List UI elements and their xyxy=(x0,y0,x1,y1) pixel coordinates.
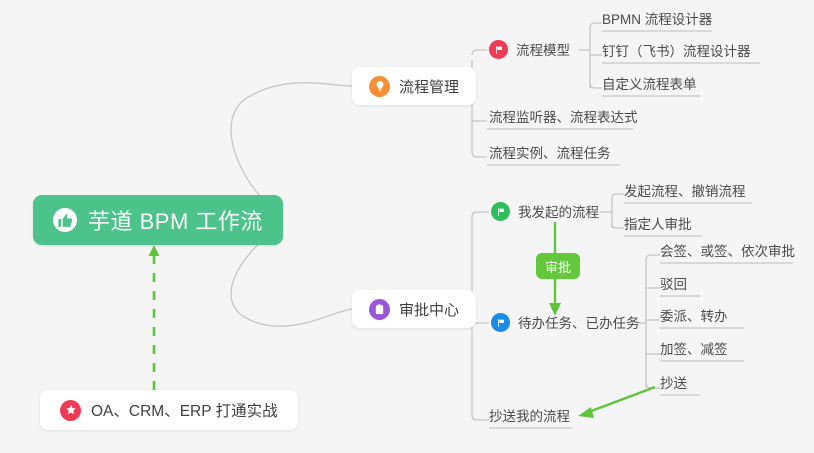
root-node[interactable]: 芋道 BPM 工作流 xyxy=(33,195,283,245)
branch-approval-center[interactable]: 审批中心 xyxy=(352,290,476,328)
node-custom-form[interactable]: 自定义流程表单 xyxy=(602,78,697,98)
arrow-floating-to-root xyxy=(149,245,160,390)
node-process-model[interactable]: 流程模型 xyxy=(489,40,570,64)
wire-pm-to-instance xyxy=(472,152,487,157)
node-bpmn-designer[interactable]: BPMN 流程设计器 xyxy=(602,13,712,33)
wire-ac-to-cc xyxy=(472,415,489,420)
wire-model-to-customform xyxy=(590,83,602,88)
wire-root-to-process-management xyxy=(231,83,352,213)
node-reject[interactable]: 驳回 xyxy=(660,278,687,298)
node-my-started-process[interactable]: 我发起的流程 xyxy=(491,202,599,226)
node-process-model-label: 流程模型 xyxy=(516,44,570,59)
floating-node-label: OA、CRM、ERP 打通实战 xyxy=(91,399,278,421)
node-add-remove-sign-label: 加签、减签 xyxy=(660,343,728,358)
flag-icon xyxy=(491,313,510,332)
node-cc-my-process-label: 抄送我的流程 xyxy=(489,410,570,425)
wire-started-to-launch xyxy=(612,194,624,198)
node-dingtalk-designer-label: 钉钉（飞书）流程设计器 xyxy=(602,45,751,60)
annotation-approval-badge: 审批 xyxy=(536,253,580,279)
node-process-instance-label: 流程实例、流程任务 xyxy=(489,147,611,162)
floating-node-integration[interactable]: OA、CRM、ERP 打通实战 xyxy=(40,390,298,430)
node-add-remove-sign[interactable]: 加签、减签 xyxy=(660,343,728,363)
node-assign-approver[interactable]: 指定人审批 xyxy=(624,218,692,238)
branch-approval-center-label: 审批中心 xyxy=(399,299,459,320)
node-cc-label: 抄送 xyxy=(660,377,687,392)
node-todo-done-task[interactable]: 待办任务、已办任务 xyxy=(491,313,640,337)
node-process-instance[interactable]: 流程实例、流程任务 xyxy=(489,147,611,167)
wire-started-to-assign xyxy=(612,224,624,228)
annotation-approval-badge-label: 审批 xyxy=(545,257,571,276)
node-delegate-transfer-label: 委派、转办 xyxy=(660,310,728,325)
arrow-cc-to-cc-my-process xyxy=(578,387,655,418)
node-cc-my-process[interactable]: 抄送我的流程 xyxy=(489,410,570,430)
node-delegate-transfer[interactable]: 委派、转办 xyxy=(660,310,728,330)
node-todo-done-task-label: 待办任务、已办任务 xyxy=(518,317,640,332)
root-label: 芋道 BPM 工作流 xyxy=(88,204,263,236)
node-launch-cancel-process[interactable]: 发起流程、撤销流程 xyxy=(624,185,746,205)
wire-todo-to-cc xyxy=(646,383,660,388)
node-process-listener[interactable]: 流程监听器、流程表达式 xyxy=(489,111,638,131)
flag-icon xyxy=(489,40,508,59)
node-custom-form-label: 自定义流程表单 xyxy=(602,78,697,93)
flag-icon xyxy=(491,202,510,221)
node-bpmn-designer-label: BPMN 流程设计器 xyxy=(602,13,712,28)
wire-ac-to-started xyxy=(472,212,489,217)
node-cc[interactable]: 抄送 xyxy=(660,377,687,397)
node-countersign-label: 会签、或签、依次审批 xyxy=(660,245,795,260)
node-launch-cancel-process-label: 发起流程、撤销流程 xyxy=(624,185,746,200)
node-assign-approver-label: 指定人审批 xyxy=(624,218,692,233)
node-dingtalk-designer[interactable]: 钉钉（飞书）流程设计器 xyxy=(602,45,751,65)
branch-process-management-label: 流程管理 xyxy=(399,76,459,97)
thumbs-up-icon xyxy=(53,208,77,232)
branch-process-management[interactable]: 流程管理 xyxy=(352,67,476,105)
mindmap-canvas: 芋道 BPM 工作流 OA、CRM、ERP 打通实战 流程管理 流程模型 xyxy=(0,0,814,453)
clipboard-icon xyxy=(369,299,390,320)
wire-todo-to-countersign xyxy=(646,255,660,260)
node-countersign[interactable]: 会签、或签、依次审批 xyxy=(660,245,795,265)
star-icon xyxy=(60,400,81,421)
wire-pm-to-model xyxy=(472,50,487,55)
node-my-started-process-label: 我发起的流程 xyxy=(518,206,599,221)
lightbulb-icon xyxy=(369,76,390,97)
node-reject-label: 驳回 xyxy=(660,278,687,293)
wire-model-to-bpmn xyxy=(590,23,602,28)
node-process-listener-label: 流程监听器、流程表达式 xyxy=(489,111,638,126)
